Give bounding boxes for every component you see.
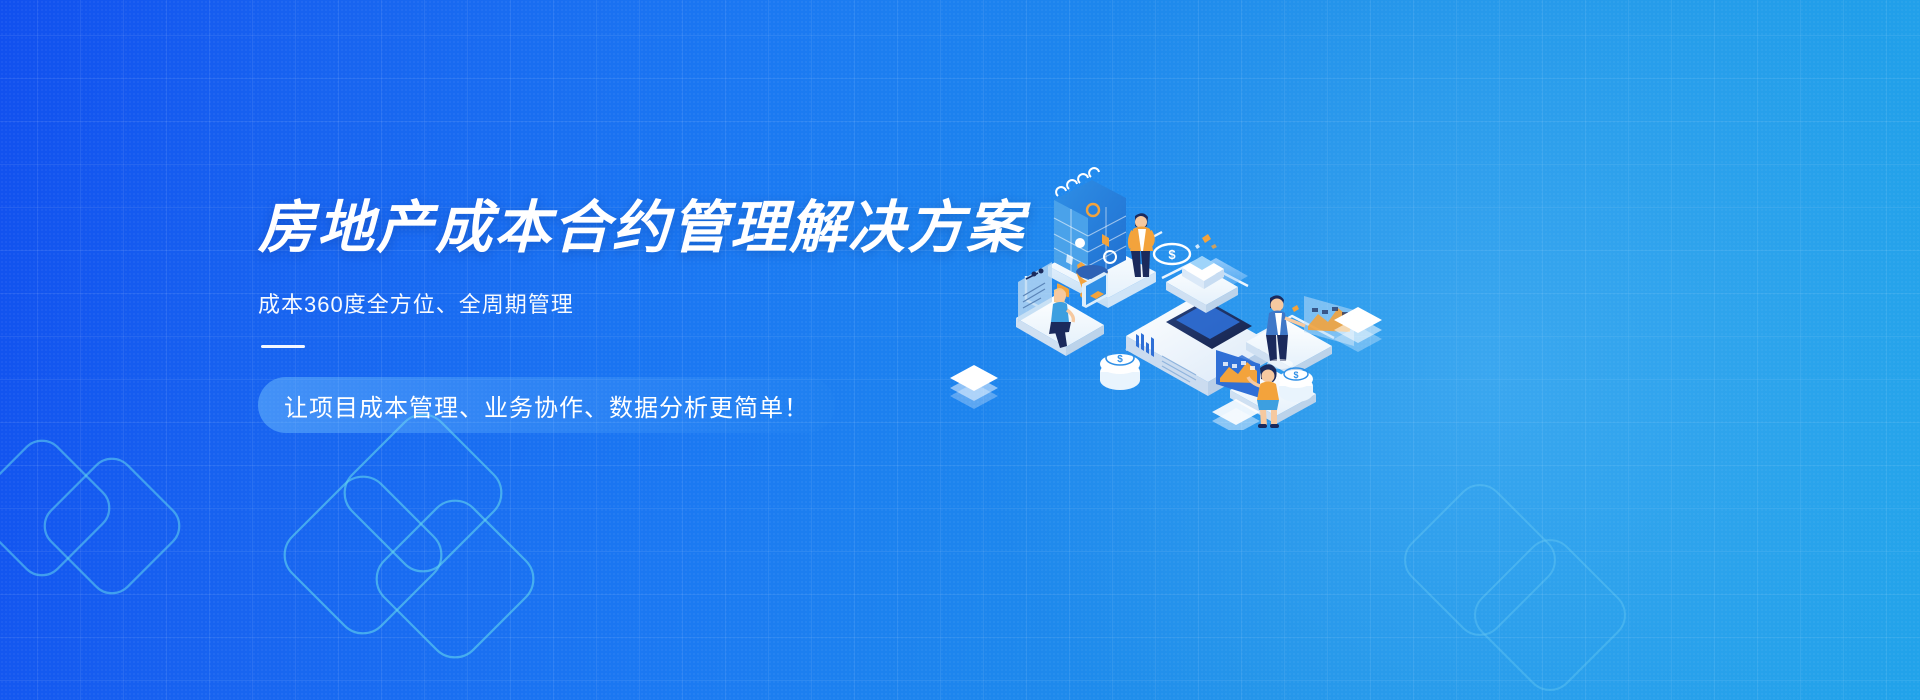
coin-stack-dollar-right: $ (1279, 368, 1313, 402)
coin-stack-dollar-top: $ (1154, 244, 1190, 264)
hero-copy: 房地产成本合约管理解决方案 成本360度全方位、全周期管理 (258, 200, 1018, 348)
page-title: 房地产成本合约管理解决方案 (258, 200, 1018, 257)
svg-text:$: $ (1168, 247, 1176, 262)
coin-stack-dollar-mid: $ (1100, 351, 1140, 390)
decorative-diamonds-left (0, 400, 760, 700)
stacked-cards-left (950, 365, 998, 409)
gear-icon (1075, 238, 1085, 248)
decorative-diamonds-right (1380, 460, 1800, 700)
isometric-illustration: $ (930, 150, 1410, 430)
tagline-text: 让项目成本管理、业务协作、数据分析更简单！ (284, 388, 809, 423)
tagline-pill: 让项目成本管理、业务协作、数据分析更简单！ (258, 377, 835, 433)
title-divider (261, 345, 305, 348)
page-subtitle: 成本360度全方位、全周期管理 (258, 287, 1018, 319)
svg-text:$: $ (1117, 354, 1123, 365)
svg-text:$: $ (1293, 370, 1298, 380)
hero-banner: 房地产成本合约管理解决方案 成本360度全方位、全周期管理 让项目成本管理、业务… (0, 0, 1920, 700)
